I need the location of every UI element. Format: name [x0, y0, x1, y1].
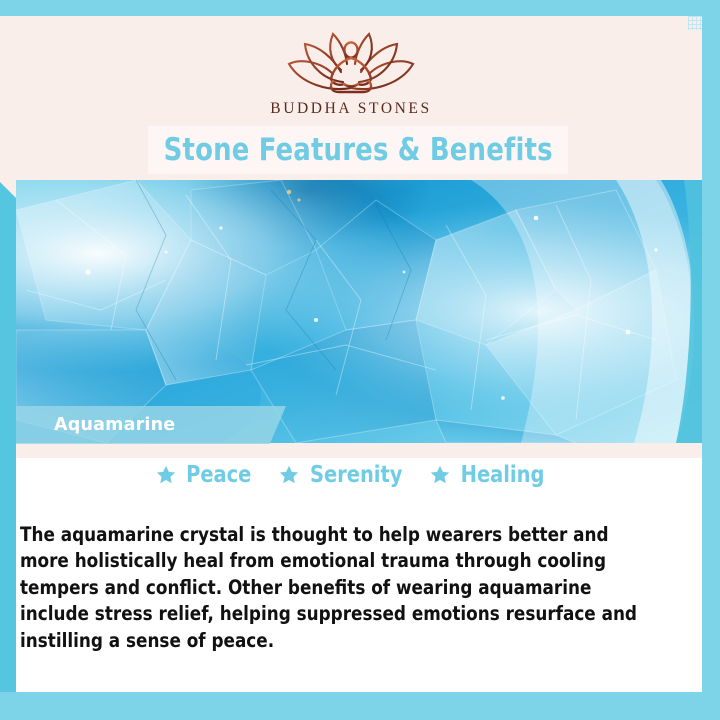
frame-left-accent-strip: [0, 182, 16, 692]
stone-name-label: Aquamarine: [16, 415, 175, 435]
frame-top-border: [0, 0, 720, 16]
aquamarine-crystal-photo: [16, 180, 702, 443]
corner-grid-decoration: [688, 16, 702, 30]
keyword-row: Peace Serenity Healing: [0, 462, 702, 488]
frame-right-border: [702, 0, 720, 720]
star-icon: [429, 464, 451, 486]
page-title: Stone Features & Benefits: [163, 132, 552, 168]
star-icon: [278, 464, 300, 486]
keyword-item: Serenity: [278, 462, 405, 488]
lotus-meditation-icon: [271, 24, 431, 98]
keyword-label: Serenity: [309, 462, 401, 488]
frame-bottom-border: [0, 692, 720, 720]
keyword-label: Healing: [461, 462, 545, 488]
brand-name: BUDDHA STONES: [0, 100, 702, 118]
photo-caption-band: Aquamarine: [16, 406, 286, 444]
keyword-label: Peace: [186, 462, 251, 488]
keyword-item: Peace: [155, 462, 253, 488]
star-icon: [155, 464, 177, 486]
description-paragraph: The aquamarine crystal is thought to hel…: [20, 522, 654, 655]
infographic-card: BUDDHA STONES Stone Features & Benefits: [0, 0, 720, 720]
brand-logo: BUDDHA STONES: [0, 24, 702, 118]
keyword-item: Healing: [429, 462, 547, 488]
section-title-box: Stone Features & Benefits: [148, 126, 568, 174]
